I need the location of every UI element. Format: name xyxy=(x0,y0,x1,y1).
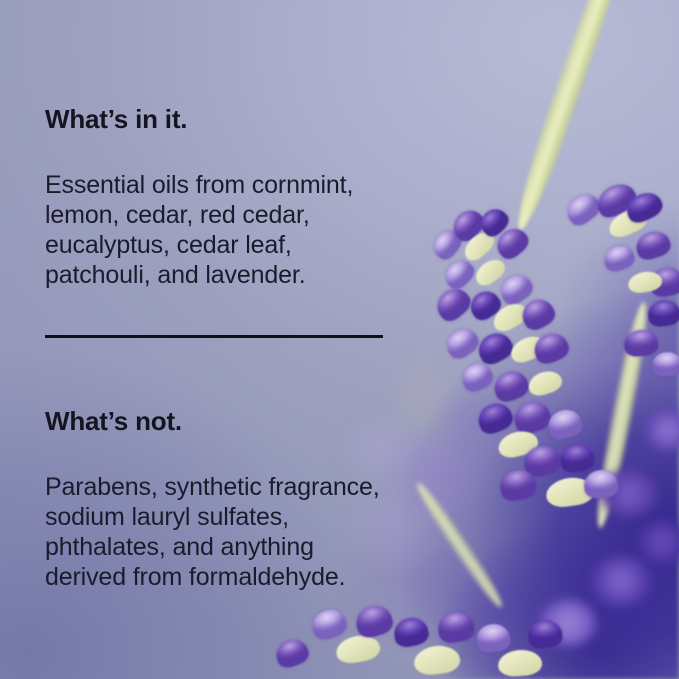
section-divider xyxy=(45,335,383,338)
section-body-whats-not: Parabens, synthetic fragrance, sodium la… xyxy=(45,472,380,592)
product-ingredient-card: What’s in it. Essential oils from cornmi… xyxy=(0,0,679,679)
section-heading-whats-not: What’s not. xyxy=(45,406,182,437)
section-body-whats-in-it: Essential oils from cornmint, lemon, ced… xyxy=(45,170,353,290)
text-content-layer: What’s in it. Essential oils from cornmi… xyxy=(0,0,679,679)
section-heading-whats-in-it: What’s in it. xyxy=(45,104,187,135)
